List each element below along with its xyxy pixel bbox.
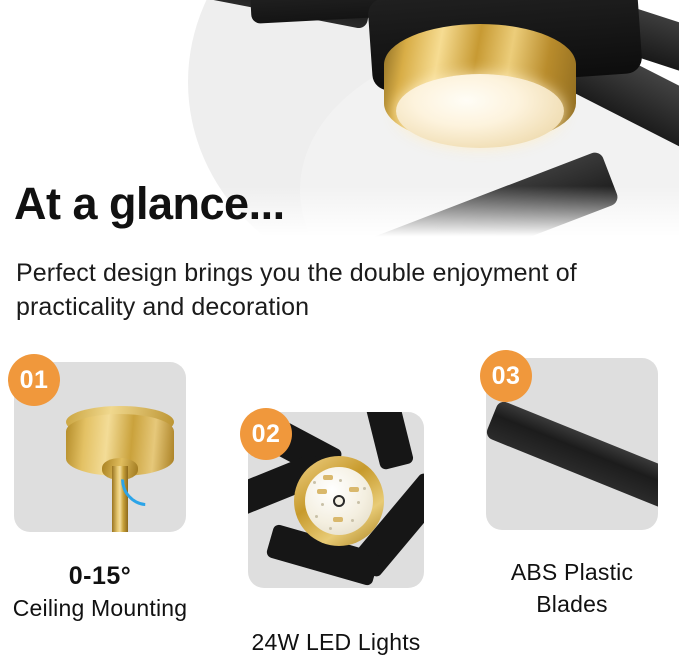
led-chip [349,487,359,492]
page-title: At a glance... [14,180,285,229]
led-module-face [305,467,373,535]
led-chip [323,475,333,480]
led-chip [333,517,343,522]
feature-01-caption: Ceiling Mounting [0,594,200,623]
feature-badge-03: 03 [480,350,532,402]
feature-01-caption-strong: 0-15° [0,560,200,592]
led-dot [313,481,316,484]
led-dot [357,501,360,504]
feature-badge-01: 01 [8,354,60,406]
product-infographic: At a glance... Perfect design brings you… [0,0,679,661]
led-chip [317,489,327,494]
led-dot [315,515,318,518]
led-dot [363,487,366,490]
feature-02-caption: 24W LED Lights [236,628,436,657]
led-dot [339,479,342,482]
led-center-hub [333,495,345,507]
feature-03-caption-line-1: ABS Plastic [472,558,672,587]
feature-badge-02: 02 [240,408,292,460]
feature-03-caption-line-2: Blades [472,590,672,619]
led-dot [321,503,324,506]
led-dot [351,519,354,522]
led-dot [329,527,332,530]
led-light-lens [396,74,564,148]
panel2-blade-2 [356,412,415,471]
abs-plastic-blade [486,399,658,515]
page-subtitle: Perfect design brings you the double enj… [16,256,616,324]
